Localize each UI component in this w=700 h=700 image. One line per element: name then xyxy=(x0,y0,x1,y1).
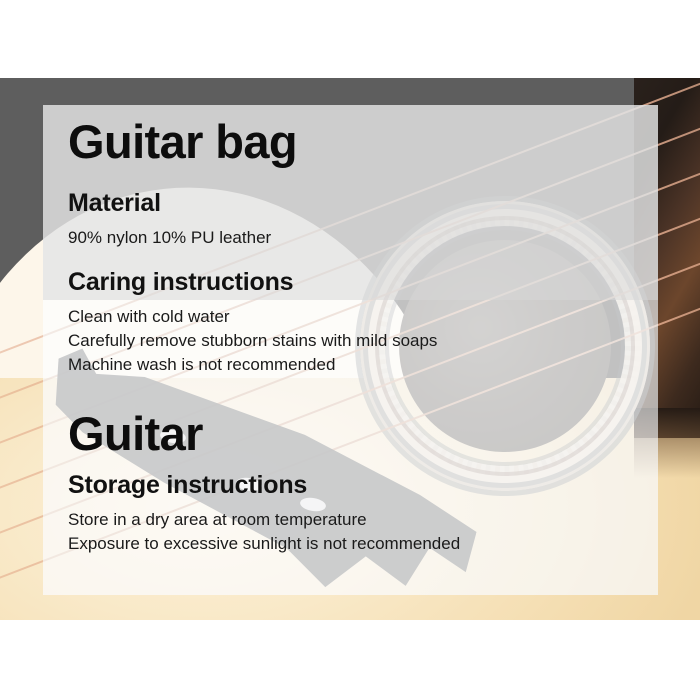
heading-storage-instructions: Storage instructions xyxy=(68,473,460,498)
section-title-guitar: Guitar xyxy=(68,410,203,457)
group-storage-instructions: Storage instructions Store in a dry area… xyxy=(68,473,460,556)
heading-caring-instructions: Caring instructions xyxy=(68,270,437,295)
caring-lines: Clean with cold water Carefully remove s… xyxy=(68,305,437,377)
caring-line-3: Machine wash is not recommended xyxy=(68,353,437,377)
heading-material: Material xyxy=(68,191,271,216)
material-lines: 90% nylon 10% PU leather xyxy=(68,226,271,250)
product-care-label: Guitar bag Material 90% nylon 10% PU lea… xyxy=(0,0,700,700)
storage-lines: Store in a dry area at room temperature … xyxy=(68,508,460,556)
section-guitar: Guitar xyxy=(68,410,203,457)
caring-line-1: Clean with cold water xyxy=(68,305,437,329)
group-caring-instructions: Caring instructions Clean with cold wate… xyxy=(68,270,437,377)
section-title-guitar-bag: Guitar bag xyxy=(68,118,297,165)
storage-line-2: Exposure to excessive sunlight is not re… xyxy=(68,532,460,556)
caring-line-2: Carefully remove stubborn stains with mi… xyxy=(68,329,437,353)
material-line-1: 90% nylon 10% PU leather xyxy=(68,226,271,250)
group-material: Material 90% nylon 10% PU leather xyxy=(68,191,271,250)
section-guitar-bag: Guitar bag xyxy=(68,118,297,165)
storage-line-1: Store in a dry area at room temperature xyxy=(68,508,460,532)
